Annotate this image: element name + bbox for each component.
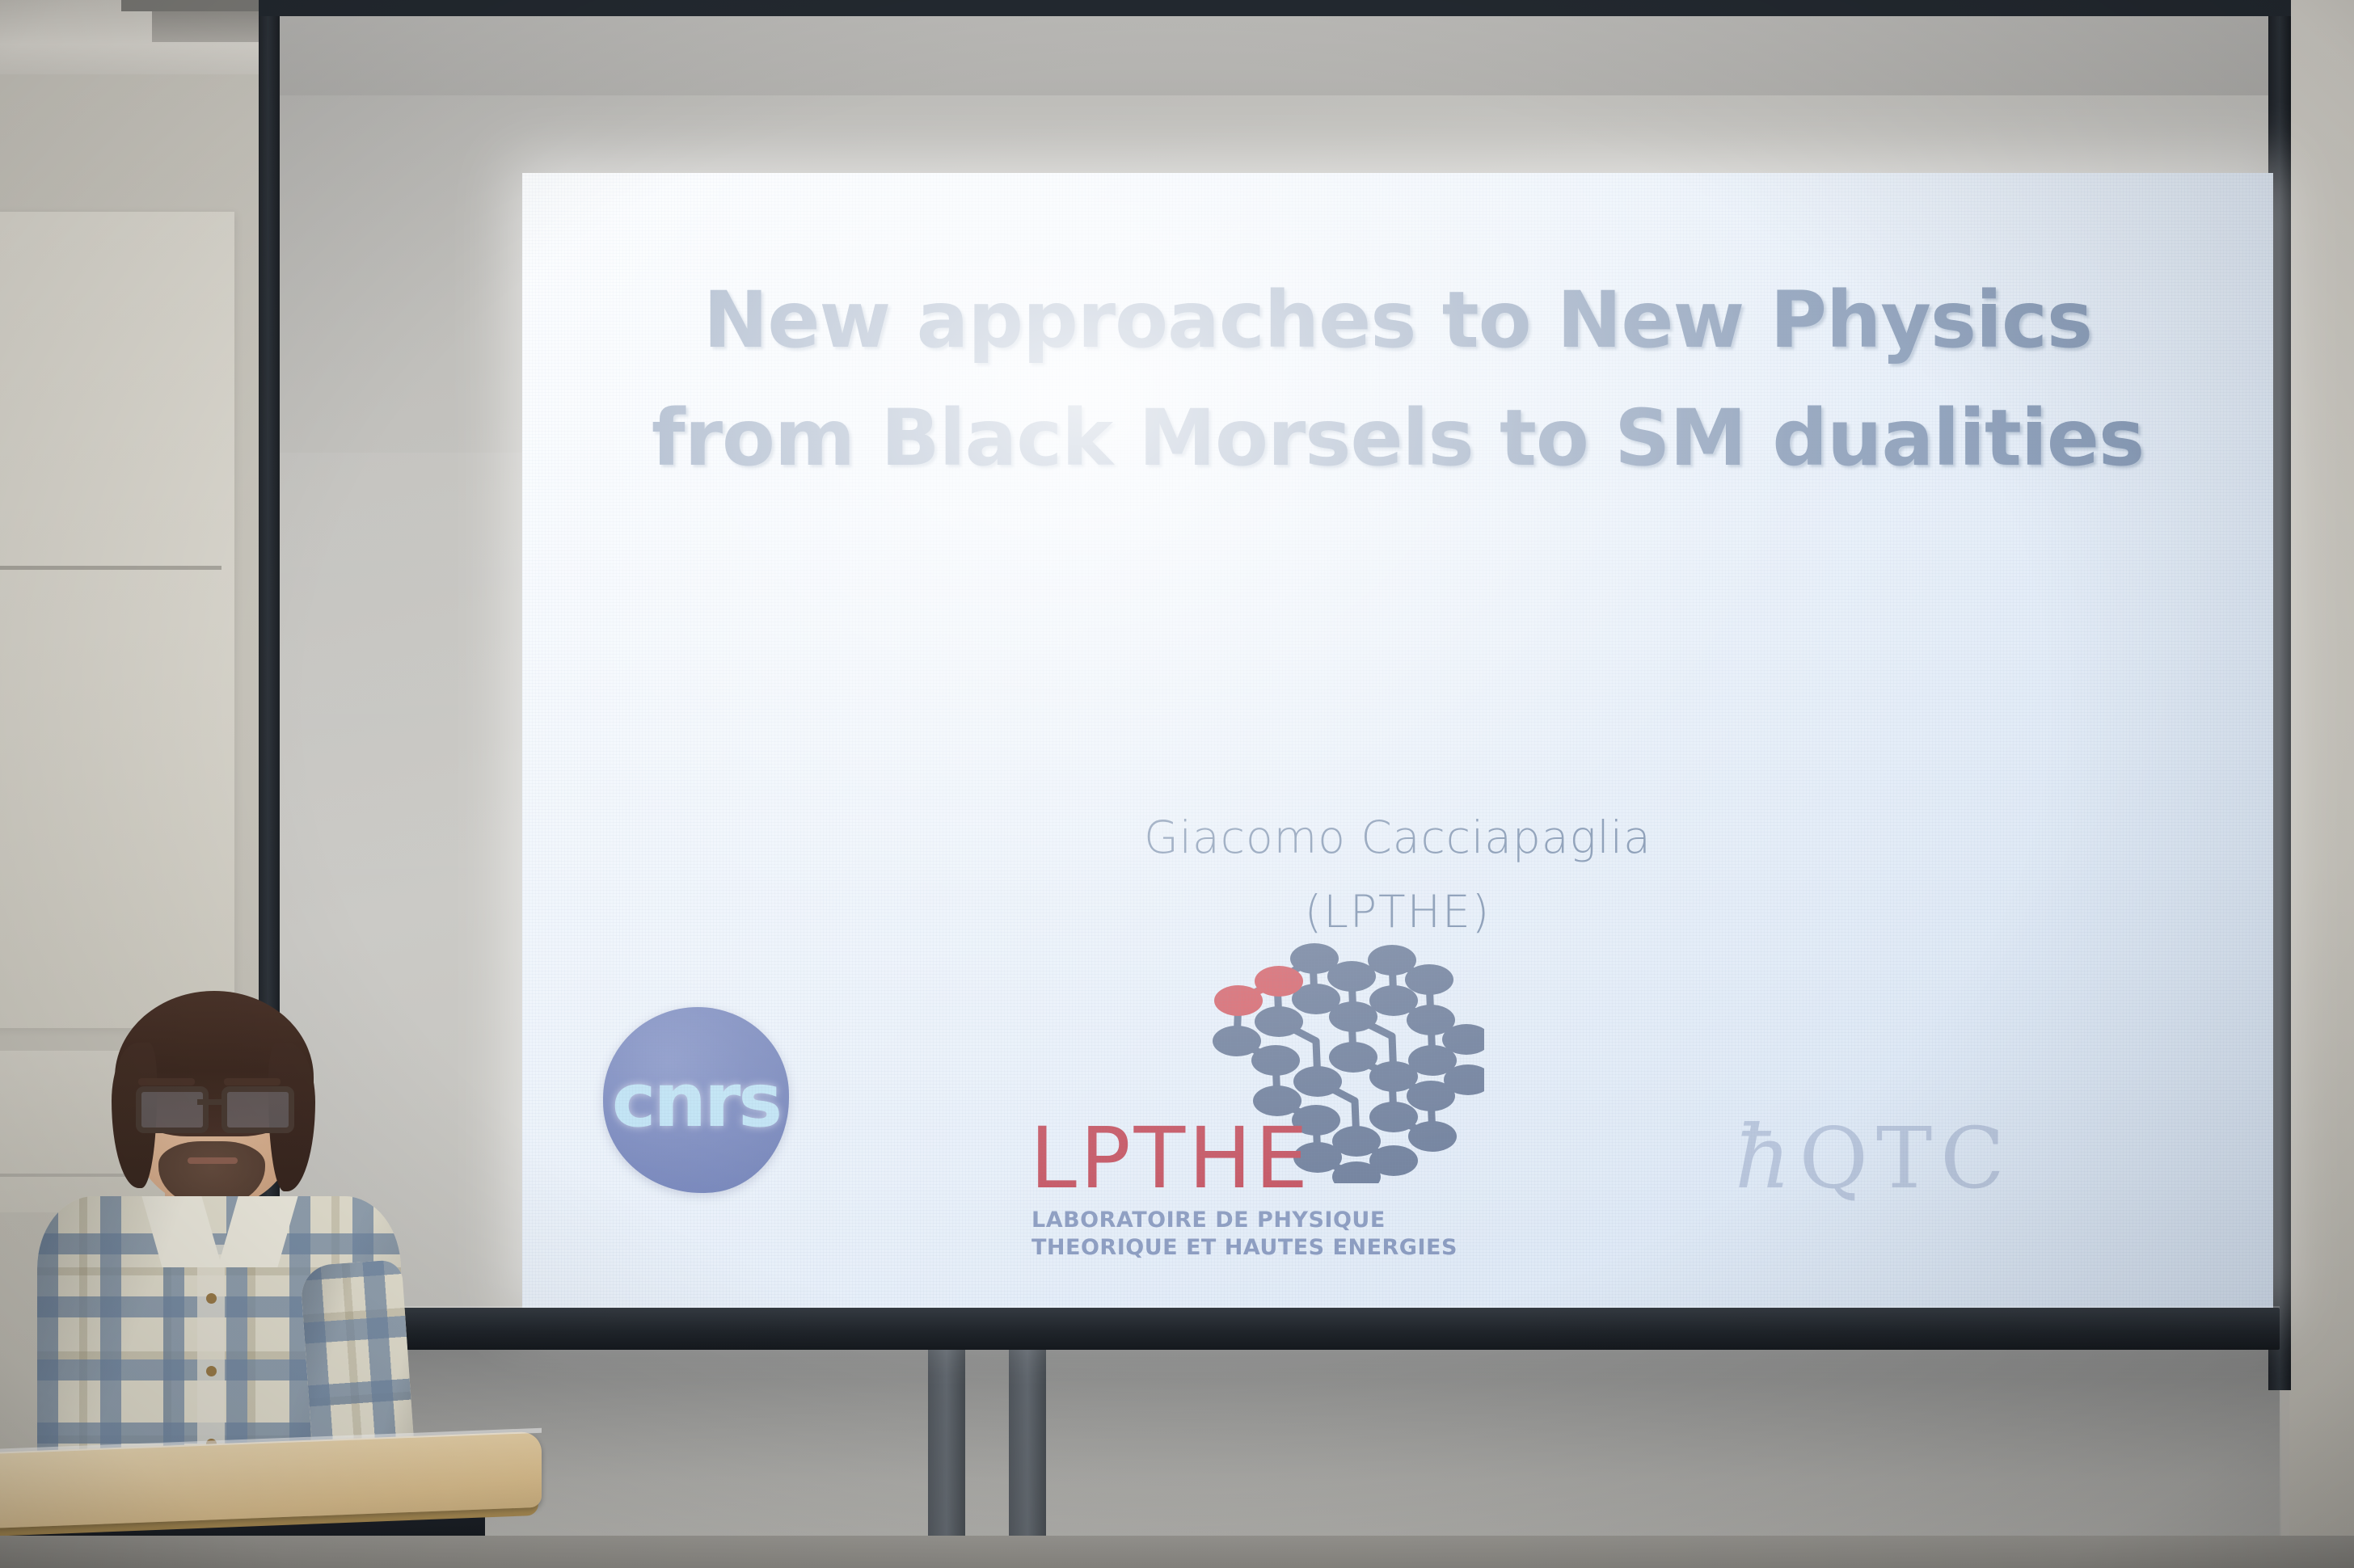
hqtc-logo: ħQTC <box>1735 1107 2013 1208</box>
glasses-bridge-icon <box>197 1099 221 1105</box>
lecture-room-photo: New approaches to New Physics from Black… <box>0 0 2354 1568</box>
slide-author: Giacomo Cacciapaglia <box>522 811 2273 863</box>
slide-title-line-1: New approaches to New Physics <box>571 262 2225 380</box>
projected-slide: New approaches to New Physics from Black… <box>522 173 2273 1308</box>
floor <box>0 1536 2354 1568</box>
ceiling-tile-edge <box>121 0 260 11</box>
hbar-icon: ħ <box>1735 1107 1799 1208</box>
lpthe-wordmark: LPTHE <box>1030 1109 1311 1208</box>
slide-title-line-2: from Black Morsels to SM dualities <box>571 380 2225 498</box>
lpthe-subtitle-line-1: LABORATOIRE DE PHYSIQUE <box>1031 1208 1386 1233</box>
speaker-eyebrow-left <box>138 1078 195 1085</box>
slide-affiliation: (LPTHE) <box>522 886 2273 938</box>
wall-whiteboard-panel <box>0 212 234 1028</box>
speaker-eyebrow-right <box>224 1078 281 1085</box>
glasses-lens-left-icon <box>136 1086 209 1133</box>
cnrs-wordmark: cnrs <box>603 1007 789 1193</box>
slide-title: New approaches to New Physics from Black… <box>571 262 2225 498</box>
wall-panel-trim-top <box>0 566 221 570</box>
cnrs-logo: cnrs <box>603 1007 789 1193</box>
lpthe-logo: LPTHE LABORATOIRE DE PHYSIQUE THEORIQUE … <box>1030 965 1483 1232</box>
hqtc-wordmark: QTC <box>1799 1109 2013 1208</box>
screen-frame-top <box>259 0 2291 16</box>
speaker-mouth <box>188 1157 238 1164</box>
lpthe-subtitle-line-2: THEORIQUE ET HAUTES ENERGIES <box>1031 1235 1458 1260</box>
glasses-lens-right-icon <box>221 1086 294 1133</box>
right-wall-return <box>2289 0 2354 1568</box>
screen-frame-bottom <box>275 1308 2280 1350</box>
